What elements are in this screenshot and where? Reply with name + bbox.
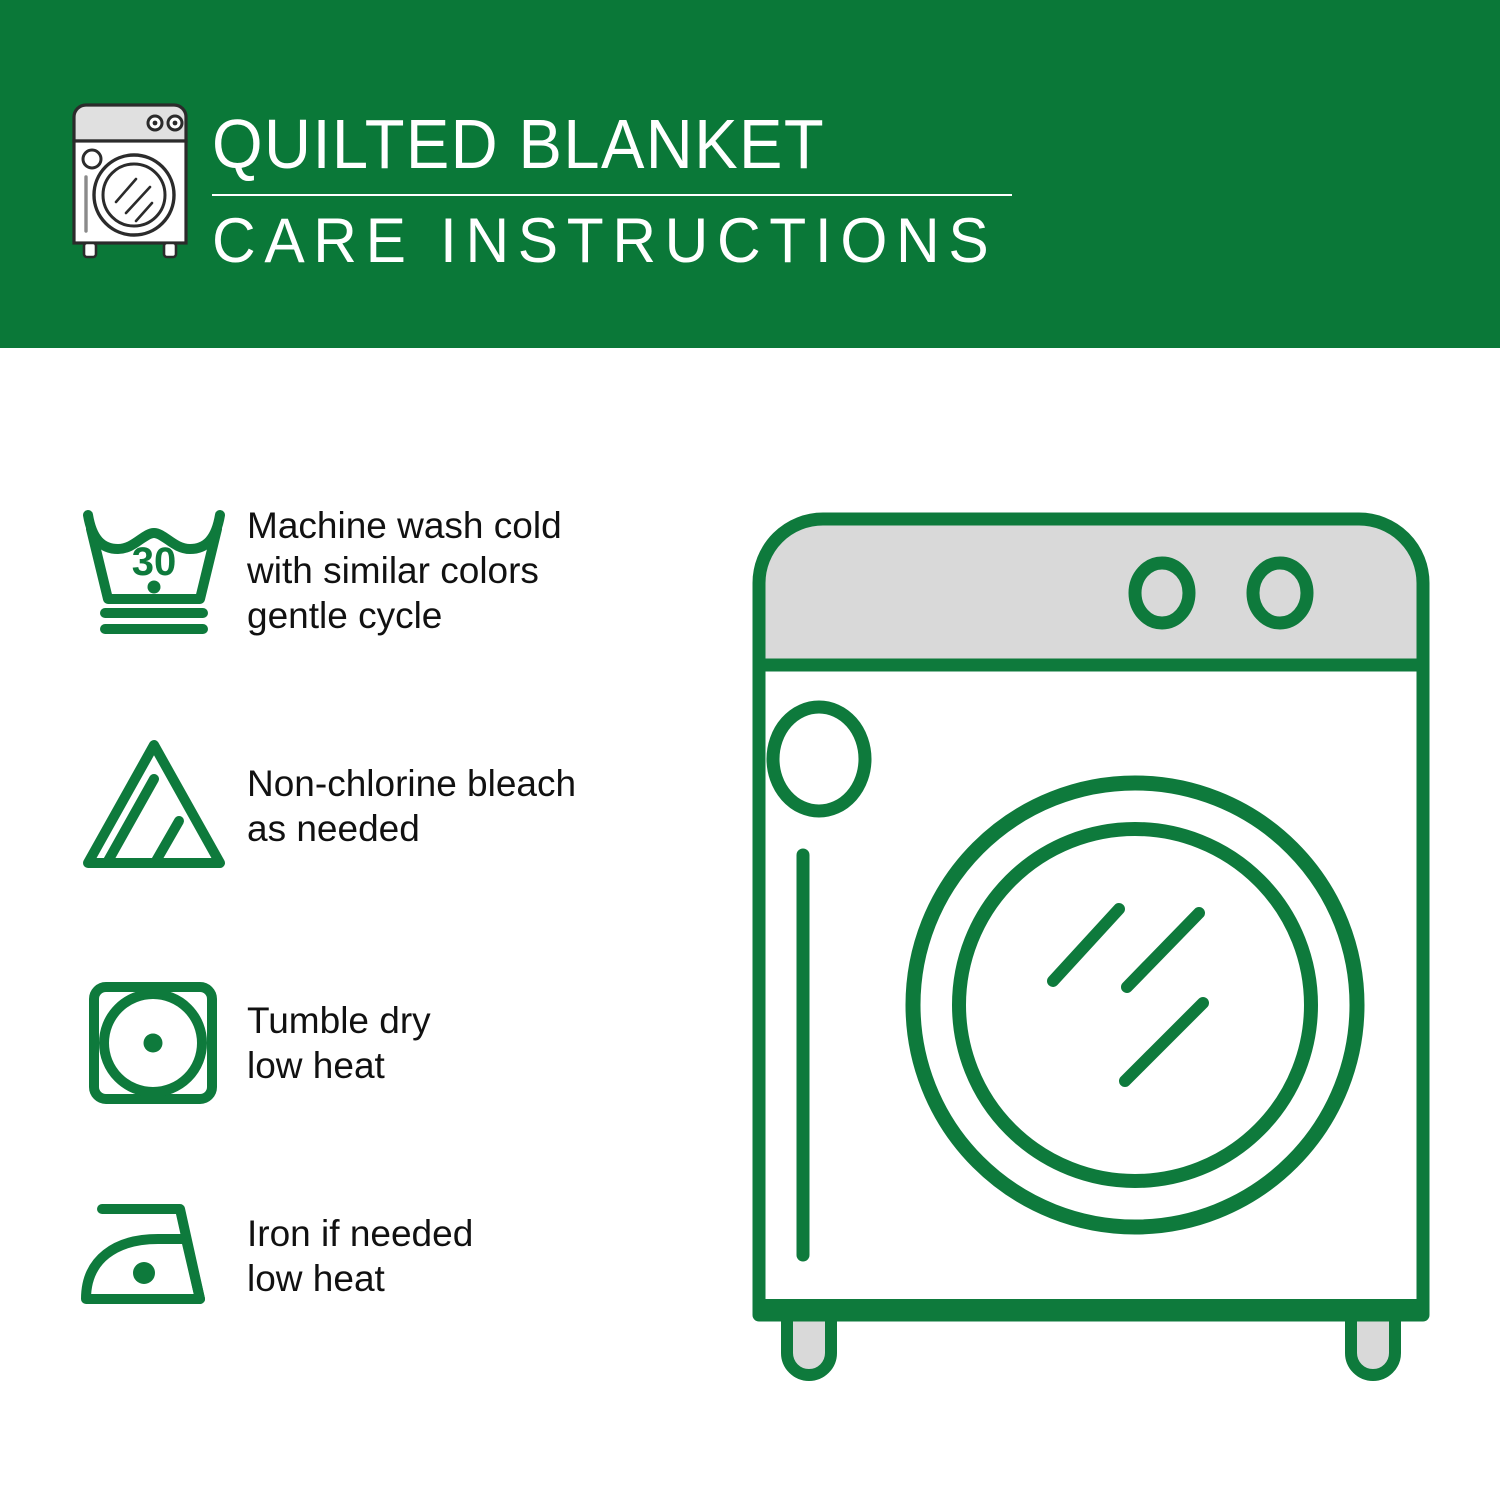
page-title: QUILTED BLANKET [212, 104, 975, 184]
door-inner-ring [959, 829, 1311, 1181]
care-text-bleach: Non-chlorine bleach as needed [247, 761, 712, 851]
care-line: Tumble dry [247, 998, 712, 1043]
door-outer-ring [913, 783, 1357, 1227]
care-row-machine-wash: 30 Machine wash cold with similar colors… [72, 503, 712, 638]
title-divider [212, 194, 1012, 196]
care-text-iron: Iron if needed low heat [247, 1211, 712, 1301]
wash-temperature-label: 30 [132, 540, 177, 584]
care-line: low heat [247, 1256, 712, 1301]
care-instructions-page: QUILTED BLANKET CARE INSTRUCTIONS 3 [0, 0, 1500, 1500]
front-load-washing-machine-illustration [735, 495, 1465, 1425]
page-subtitle: CARE INSTRUCTIONS [212, 204, 999, 278]
care-line: as needed [247, 806, 712, 851]
care-line: low heat [247, 1043, 712, 1088]
care-line: Machine wash cold [247, 503, 712, 548]
iron-low-heat-icon [72, 1193, 247, 1318]
header-text-block: QUILTED BLANKET CARE INSTRUCTIONS [212, 104, 1032, 278]
care-line: Iron if needed [247, 1211, 712, 1256]
header-banner: QUILTED BLANKET CARE INSTRUCTIONS [0, 0, 1500, 348]
care-line: with similar colors [247, 548, 712, 593]
wash-tub-30-gentle-icon: 30 [72, 503, 247, 638]
control-panel [759, 519, 1423, 665]
care-row-bleach: Non-chlorine bleach as needed [72, 733, 712, 878]
care-text-machine-wash: Machine wash cold with similar colors ge… [247, 503, 712, 638]
care-instruction-list: 30 Machine wash cold with similar colors… [0, 348, 740, 1500]
washing-machine-icon [60, 103, 200, 265]
care-line: Non-chlorine bleach [247, 761, 712, 806]
door-streaks [1053, 909, 1203, 1081]
care-row-tumble-dry: Tumble dry low heat [72, 973, 712, 1113]
care-text-tumble-dry: Tumble dry low heat [247, 998, 712, 1088]
tumble-dry-low-heat-icon [72, 973, 247, 1113]
care-line: gentle cycle [247, 593, 712, 638]
dispenser-indicator [773, 707, 865, 811]
care-row-iron: Iron if needed low heat [72, 1193, 712, 1318]
non-chlorine-bleach-triangle-icon [72, 733, 247, 878]
